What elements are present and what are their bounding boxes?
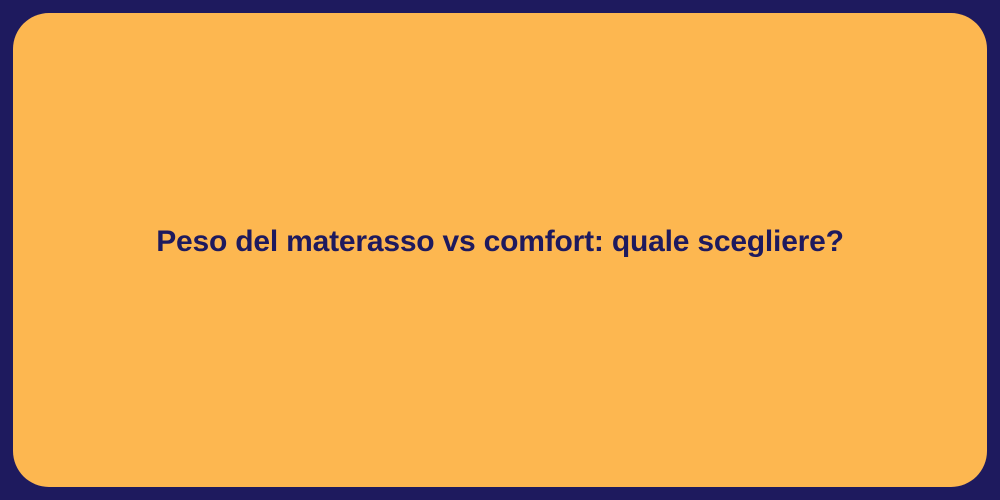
banner-title-container: Peso del materasso vs comfort: quale sce… bbox=[13, 13, 987, 487]
banner-root: Peso del materasso vs comfort: quale sce… bbox=[0, 0, 1000, 500]
page-title: Peso del materasso vs comfort: quale sce… bbox=[156, 223, 844, 261]
banner-card: Peso del materasso vs comfort: quale sce… bbox=[13, 13, 987, 487]
